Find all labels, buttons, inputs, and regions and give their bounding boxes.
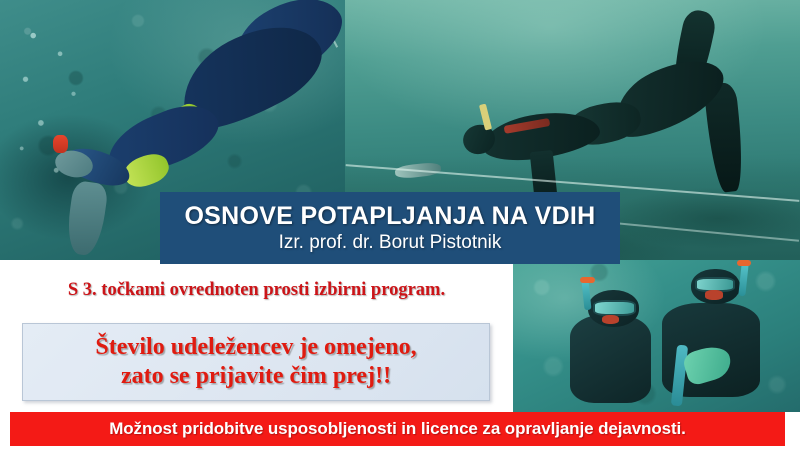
- diver-one-regulator-icon: [602, 315, 619, 324]
- notice-line-two: zato se prijavite čim prej!!: [121, 362, 391, 391]
- diver-two-regulator-icon: [705, 290, 722, 299]
- footer-red-bar: Možnost pridobitve usposobljenosti in li…: [10, 412, 785, 446]
- notice-line-one: Število udeležencev je omejeno,: [95, 333, 416, 362]
- diver-one-mask-icon: [593, 300, 636, 317]
- limited-places-box: Število udeležencev je omejeno, zato se …: [22, 323, 490, 401]
- footer-licence-text: Možnost pridobitve usposobljenosti in li…: [109, 419, 686, 439]
- credit-points-text: S 3. točkami ovrednoten prosti izbirni p…: [68, 280, 445, 301]
- photo-bottom-right: [513, 260, 800, 412]
- poster-canvas: OSNOVE POTAPLJANJA NA VDIH Izr. prof. dr…: [0, 0, 800, 450]
- freediver-snorkel-icon: [53, 135, 67, 153]
- diver-one-body: [570, 315, 650, 403]
- poster-subtitle-lecturer: Izr. prof. dr. Borut Pistotnik: [279, 233, 502, 253]
- title-banner: OSNOVE POTAPLJANJA NA VDIH Izr. prof. dr…: [160, 192, 620, 264]
- diver-one-snorkel-tip: [580, 277, 594, 283]
- diver-two-snorkel-tip: [737, 260, 751, 266]
- notice-area: Število udeležencev je omejeno, zato se …: [0, 314, 513, 410]
- poster-title: OSNOVE POTAPLJANJA NA VDIH: [184, 203, 595, 229]
- credit-points-strip: S 3. točkami ovrednoten prosti izbirni p…: [0, 266, 513, 314]
